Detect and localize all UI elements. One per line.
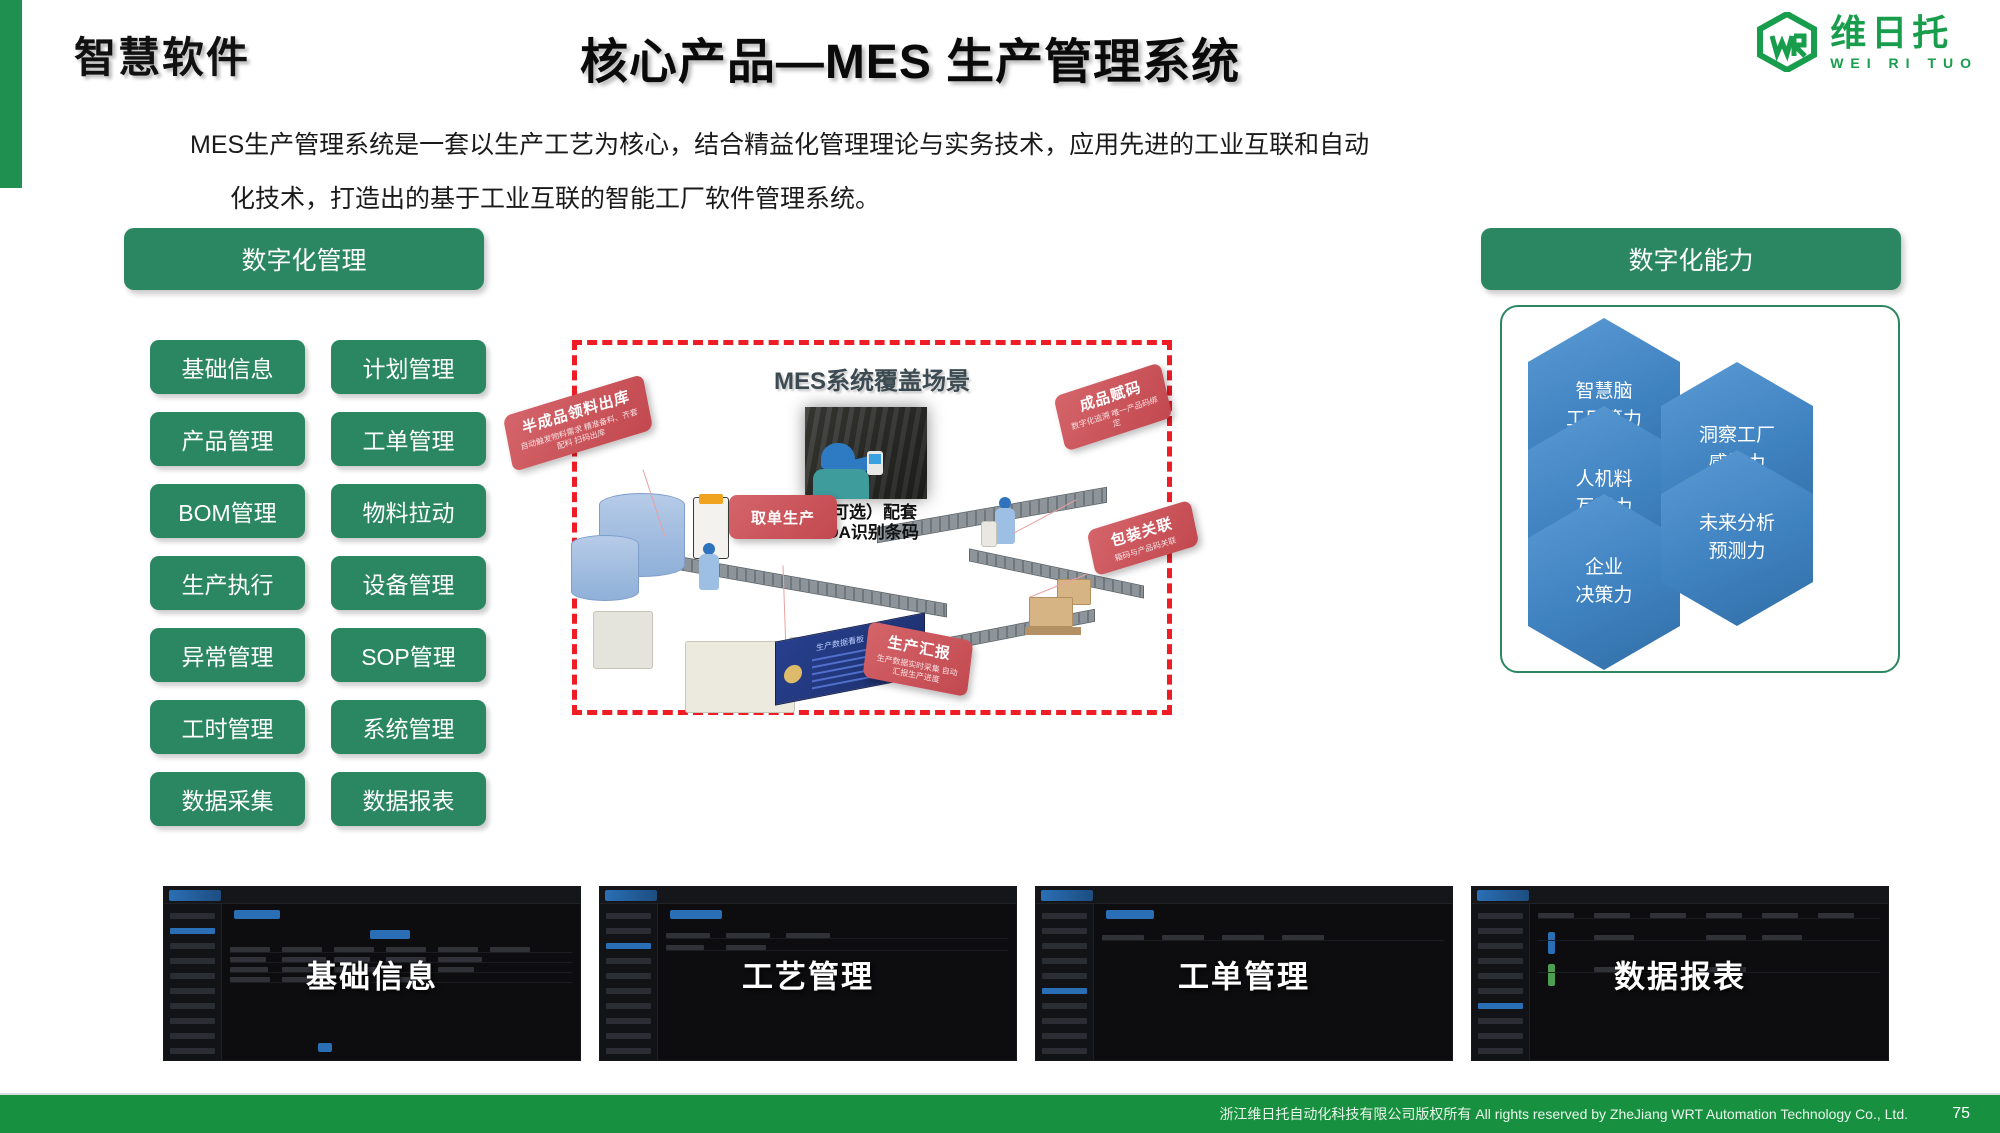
sidebar-item (170, 1018, 215, 1024)
table-header-row (1102, 934, 1444, 941)
screenshot-card-basic-info[interactable]: 基础信息 (163, 886, 581, 1061)
sidebar-item (1478, 1048, 1523, 1054)
sidebar-item (1042, 1048, 1087, 1054)
module-button-grid: 基础信息 计划管理 产品管理 工单管理 BOM管理 物料拉动 生产执行 设备管理… (150, 340, 486, 826)
logo-wordmark: 维日托 WEI RI TUO (1830, 15, 1978, 70)
sidebar-item (1042, 1018, 1087, 1024)
module-button-product-mgmt[interactable]: 产品管理 (150, 412, 305, 466)
sidebar-item (606, 1018, 651, 1024)
page-title: 核心产品—MES 生产管理系统 (500, 22, 1320, 92)
sidebar-item (170, 1003, 215, 1009)
slide-root: 智慧软件 核心产品—MES 生产管理系统 MES生产管理系统是一套以生产工艺为核… (0, 0, 2000, 1133)
sidebar-item (1478, 943, 1523, 949)
sidebar-item-active (1478, 1003, 1523, 1009)
left-accent-bar (0, 0, 22, 188)
sidebar-item (606, 1048, 651, 1054)
kanban-gauge-icon (784, 663, 802, 684)
sidebar-item (1042, 1033, 1087, 1039)
section-pill-digital-capability: 数字化能力 (1481, 228, 1901, 290)
module-button-data-collection[interactable]: 数据采集 (150, 772, 305, 826)
process-tag-package-link: 包装关联 箱码与产品码关联 (1087, 500, 1200, 577)
carton-box-2 (1029, 597, 1073, 627)
wr-hexagon-logo-icon (1756, 12, 1818, 72)
agv-robot (981, 521, 997, 547)
app-top-bar (164, 887, 580, 904)
footer-copyright: 浙江维日托自动化科技有限公司版权所有 All rights reserved b… (1219, 1104, 1908, 1124)
ibc-container (593, 611, 653, 669)
sidebar-item (170, 1048, 215, 1054)
clipboard-clip (699, 494, 723, 504)
module-button-workorder-mgmt[interactable]: 工单管理 (331, 412, 486, 466)
table-header-row (666, 932, 1008, 939)
sidebar-item (170, 1033, 215, 1039)
app-logo-icon (1041, 890, 1093, 901)
app-top-bar (1472, 887, 1888, 904)
process-tag-production-report: 生产汇报 生产数据实时采集 自动汇报生产进度 (863, 621, 974, 697)
sidebar-item (606, 1033, 651, 1039)
hex-line-2: 预测力 (1708, 538, 1765, 566)
sidebar-item (1478, 913, 1523, 919)
hex-line-1: 企业 (1585, 554, 1623, 582)
sidebar-item (1478, 1033, 1523, 1039)
sidebar-item (1478, 928, 1523, 934)
logo-text-cn: 维日托 (1830, 15, 1978, 51)
logo-text-en: WEI RI TUO (1830, 56, 1978, 70)
app-logo-icon (1477, 890, 1529, 901)
screenshot-label: 数据报表 (1472, 951, 1888, 996)
intro-paragraph: MES生产管理系统是一套以生产工艺为核心，结合精益化管理理论与实务技术，应用先进… (190, 118, 1590, 226)
screenshot-card-data-report[interactable]: 数据报表 (1471, 886, 1889, 1061)
sidebar-item (1042, 943, 1087, 949)
footer-bar: 浙江维日托自动化科技有限公司版权所有 All rights reserved b… (0, 1095, 2000, 1133)
query-button (370, 930, 410, 939)
module-button-sop-mgmt[interactable]: SOP管理 (331, 628, 486, 682)
app-top-bar (600, 887, 1016, 904)
app-top-bar (1036, 887, 1452, 904)
screenshot-card-process-mgmt[interactable]: 工艺管理 (599, 886, 1017, 1061)
process-tag-order-production: 取单生产 (729, 495, 837, 539)
mes-scene-diagram: MES系统覆盖场景 (572, 340, 1172, 715)
sidebar-item (1478, 1018, 1523, 1024)
module-button-bom-mgmt[interactable]: BOM管理 (150, 484, 305, 538)
screenshot-label: 工单管理 (1036, 951, 1452, 996)
conveyor-main (647, 551, 947, 618)
hex-line-1: 人机料 (1575, 466, 1632, 494)
screenshot-label: 基础信息 (164, 951, 580, 996)
screenshot-label: 工艺管理 (600, 951, 1016, 996)
hex-line-1: 洞察工厂 (1699, 422, 1775, 450)
tag-title: 取单生产 (751, 507, 815, 528)
module-button-exception-mgmt[interactable]: 异常管理 (150, 628, 305, 682)
sidebar-item-active (170, 928, 215, 934)
footer-page-number: 75 (1952, 1105, 1970, 1123)
pallet (1025, 627, 1081, 635)
sidebar-item (1042, 1003, 1087, 1009)
sidebar-item (606, 1003, 651, 1009)
tab-chip (1106, 910, 1154, 919)
sidebar-item (606, 928, 651, 934)
section-pill-digital-management: 数字化管理 (124, 228, 484, 290)
brand-logo: 维日托 WEI RI TUO (1756, 12, 1978, 72)
tab-chip (234, 910, 280, 919)
mixing-tank-small (571, 535, 639, 601)
module-button-system-mgmt[interactable]: 系统管理 (331, 700, 486, 754)
sidebar-item (1042, 913, 1087, 919)
module-button-equipment-mgmt[interactable]: 设备管理 (331, 556, 486, 610)
table-row (666, 944, 1008, 951)
table-header-row (1538, 912, 1880, 919)
app-logo-icon (605, 890, 657, 901)
table-row (1538, 934, 1880, 941)
intro-line-2: 化技术，打造出的基于工业互联的智能工厂软件管理系统。 (190, 172, 1590, 226)
hex-line-2: 决策力 (1575, 582, 1632, 610)
hex-line-1: 智慧脑 (1575, 378, 1632, 406)
screenshot-strip: 基础信息 工艺管理 (163, 886, 1889, 1061)
sidebar-item (1042, 928, 1087, 934)
kicker-title: 智慧软件 (74, 24, 250, 85)
module-button-plan-management[interactable]: 计划管理 (331, 340, 486, 394)
module-button-material-pull[interactable]: 物料拉动 (331, 484, 486, 538)
sidebar-item (170, 913, 215, 919)
tab-chip (670, 910, 722, 919)
module-button-data-report[interactable]: 数据报表 (331, 772, 486, 826)
intro-line-1: MES生产管理系统是一套以生产工艺为核心，结合精益化管理理论与实务技术，应用先进… (190, 131, 1369, 159)
worker-coding (995, 497, 1015, 544)
module-button-production-exec[interactable]: 生产执行 (150, 556, 305, 610)
hex-line-1: 未来分析 (1699, 510, 1775, 538)
sidebar-item (606, 913, 651, 919)
app-logo-icon (169, 890, 221, 901)
worker-mixing (699, 543, 719, 590)
sidebar-item (170, 943, 215, 949)
pda-scan-photo (805, 407, 927, 499)
module-button-worktime-mgmt[interactable]: 工时管理 (150, 700, 305, 754)
module-button-basic-info[interactable]: 基础信息 (150, 340, 305, 394)
sidebar-item-active (606, 943, 651, 949)
screenshot-card-workorder-mgmt[interactable]: 工单管理 (1035, 886, 1453, 1061)
pagination-active-page (318, 1043, 332, 1052)
